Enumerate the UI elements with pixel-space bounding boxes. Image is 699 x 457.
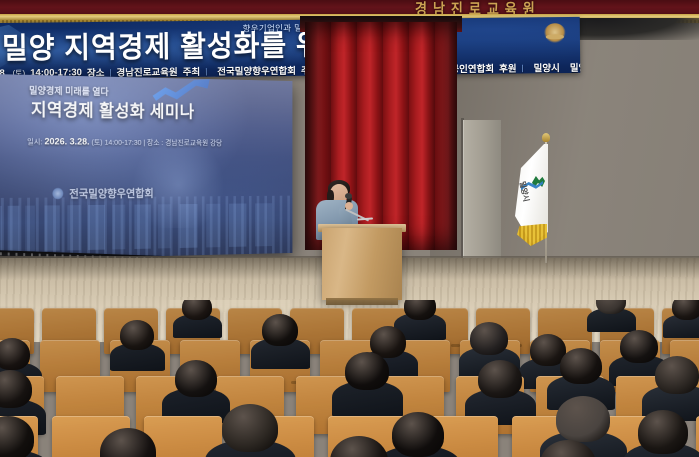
audience-person-head <box>672 300 699 320</box>
microphone-head <box>345 193 352 199</box>
banner-sep-4: | <box>521 63 523 72</box>
flag-finial <box>542 133 550 142</box>
banner-emblem-icon <box>544 23 566 43</box>
banner-sponsor: 밀양시 <box>534 60 560 74</box>
audience-person-head <box>182 300 212 320</box>
audience-area <box>0 300 699 457</box>
banner-host-label: 주최 <box>183 64 201 78</box>
slide-place-label: | 장소 : <box>143 138 163 147</box>
banner-sponsor-label: 후원 <box>499 61 517 75</box>
slide-datetime-day: (토) <box>91 138 102 147</box>
audience-person-head <box>655 356 699 394</box>
audience-person-head <box>404 300 436 320</box>
podium: 향우기업인과 밀양지역 경제인들이 함께하는 지역경제 활성화를 위한 세미나 … <box>322 228 402 300</box>
seminar-photo-scene: 경남진로교육원 향우기업인과 밀양지역 경제인들이 함께하는 밀양 지역경제 활… <box>0 0 699 457</box>
banner-title: 밀양 지역경제 활성화를 위한 세미나 <box>2 27 562 64</box>
audience-person-head <box>345 352 389 390</box>
slide-organization: 전국밀양향우연합회 <box>52 185 154 201</box>
slide-org-logo-icon <box>52 188 63 200</box>
banner-sep-2: | <box>205 66 207 75</box>
slide-meta: 일시: 2026. 3.28. (토) 14:00-17:30 | 장소 : 경… <box>27 136 255 148</box>
audience-person-head <box>478 360 522 398</box>
flag-stand <box>520 246 576 268</box>
slide-title: 지역경제 활성화 세미나 <box>31 97 241 124</box>
banner-host: 전국밀양향우연합회 <box>217 63 296 78</box>
audience-person-head <box>120 320 154 350</box>
audience-person-head <box>175 360 217 397</box>
projection-screen: 밀양경제 미래를 열다 지역경제 활성화 세미나 일시: 2026. 3.28.… <box>0 74 292 260</box>
audience-person-head <box>470 322 508 355</box>
audience-person-head <box>556 396 610 442</box>
audience-person-head <box>560 348 602 384</box>
audience-person-head <box>392 412 444 457</box>
slide-datetime-time: 14:00-17:30 <box>105 138 142 147</box>
miryang-city-logo-icon <box>529 176 545 192</box>
slide-place: 경남진로교육원 강당 <box>165 138 222 147</box>
slide-org-name: 전국밀양향우연합회 <box>69 185 153 201</box>
banner-sponsor2: 밀양시의회 <box>570 60 581 74</box>
audience-person-head <box>0 338 30 370</box>
banner-sep-1: | <box>109 67 111 76</box>
audience-person-head <box>620 330 658 363</box>
audience-person-head <box>262 314 298 346</box>
projected-slide: 밀양경제 미래를 열다 지역경제 활성화 세미나 일시: 2026. 3.28.… <box>0 74 292 260</box>
slide-datetime-label: 일시: <box>27 137 42 146</box>
audience-person-head <box>638 410 688 454</box>
side-door <box>463 120 501 265</box>
event-banner: 향우기업인과 밀양지역 경제인들이 함께하는 밀양 지역경제 활성화를 위한 세… <box>0 17 580 79</box>
slide-datetime: 2026. 3.28. <box>44 136 89 147</box>
audience-person-head <box>222 404 278 452</box>
